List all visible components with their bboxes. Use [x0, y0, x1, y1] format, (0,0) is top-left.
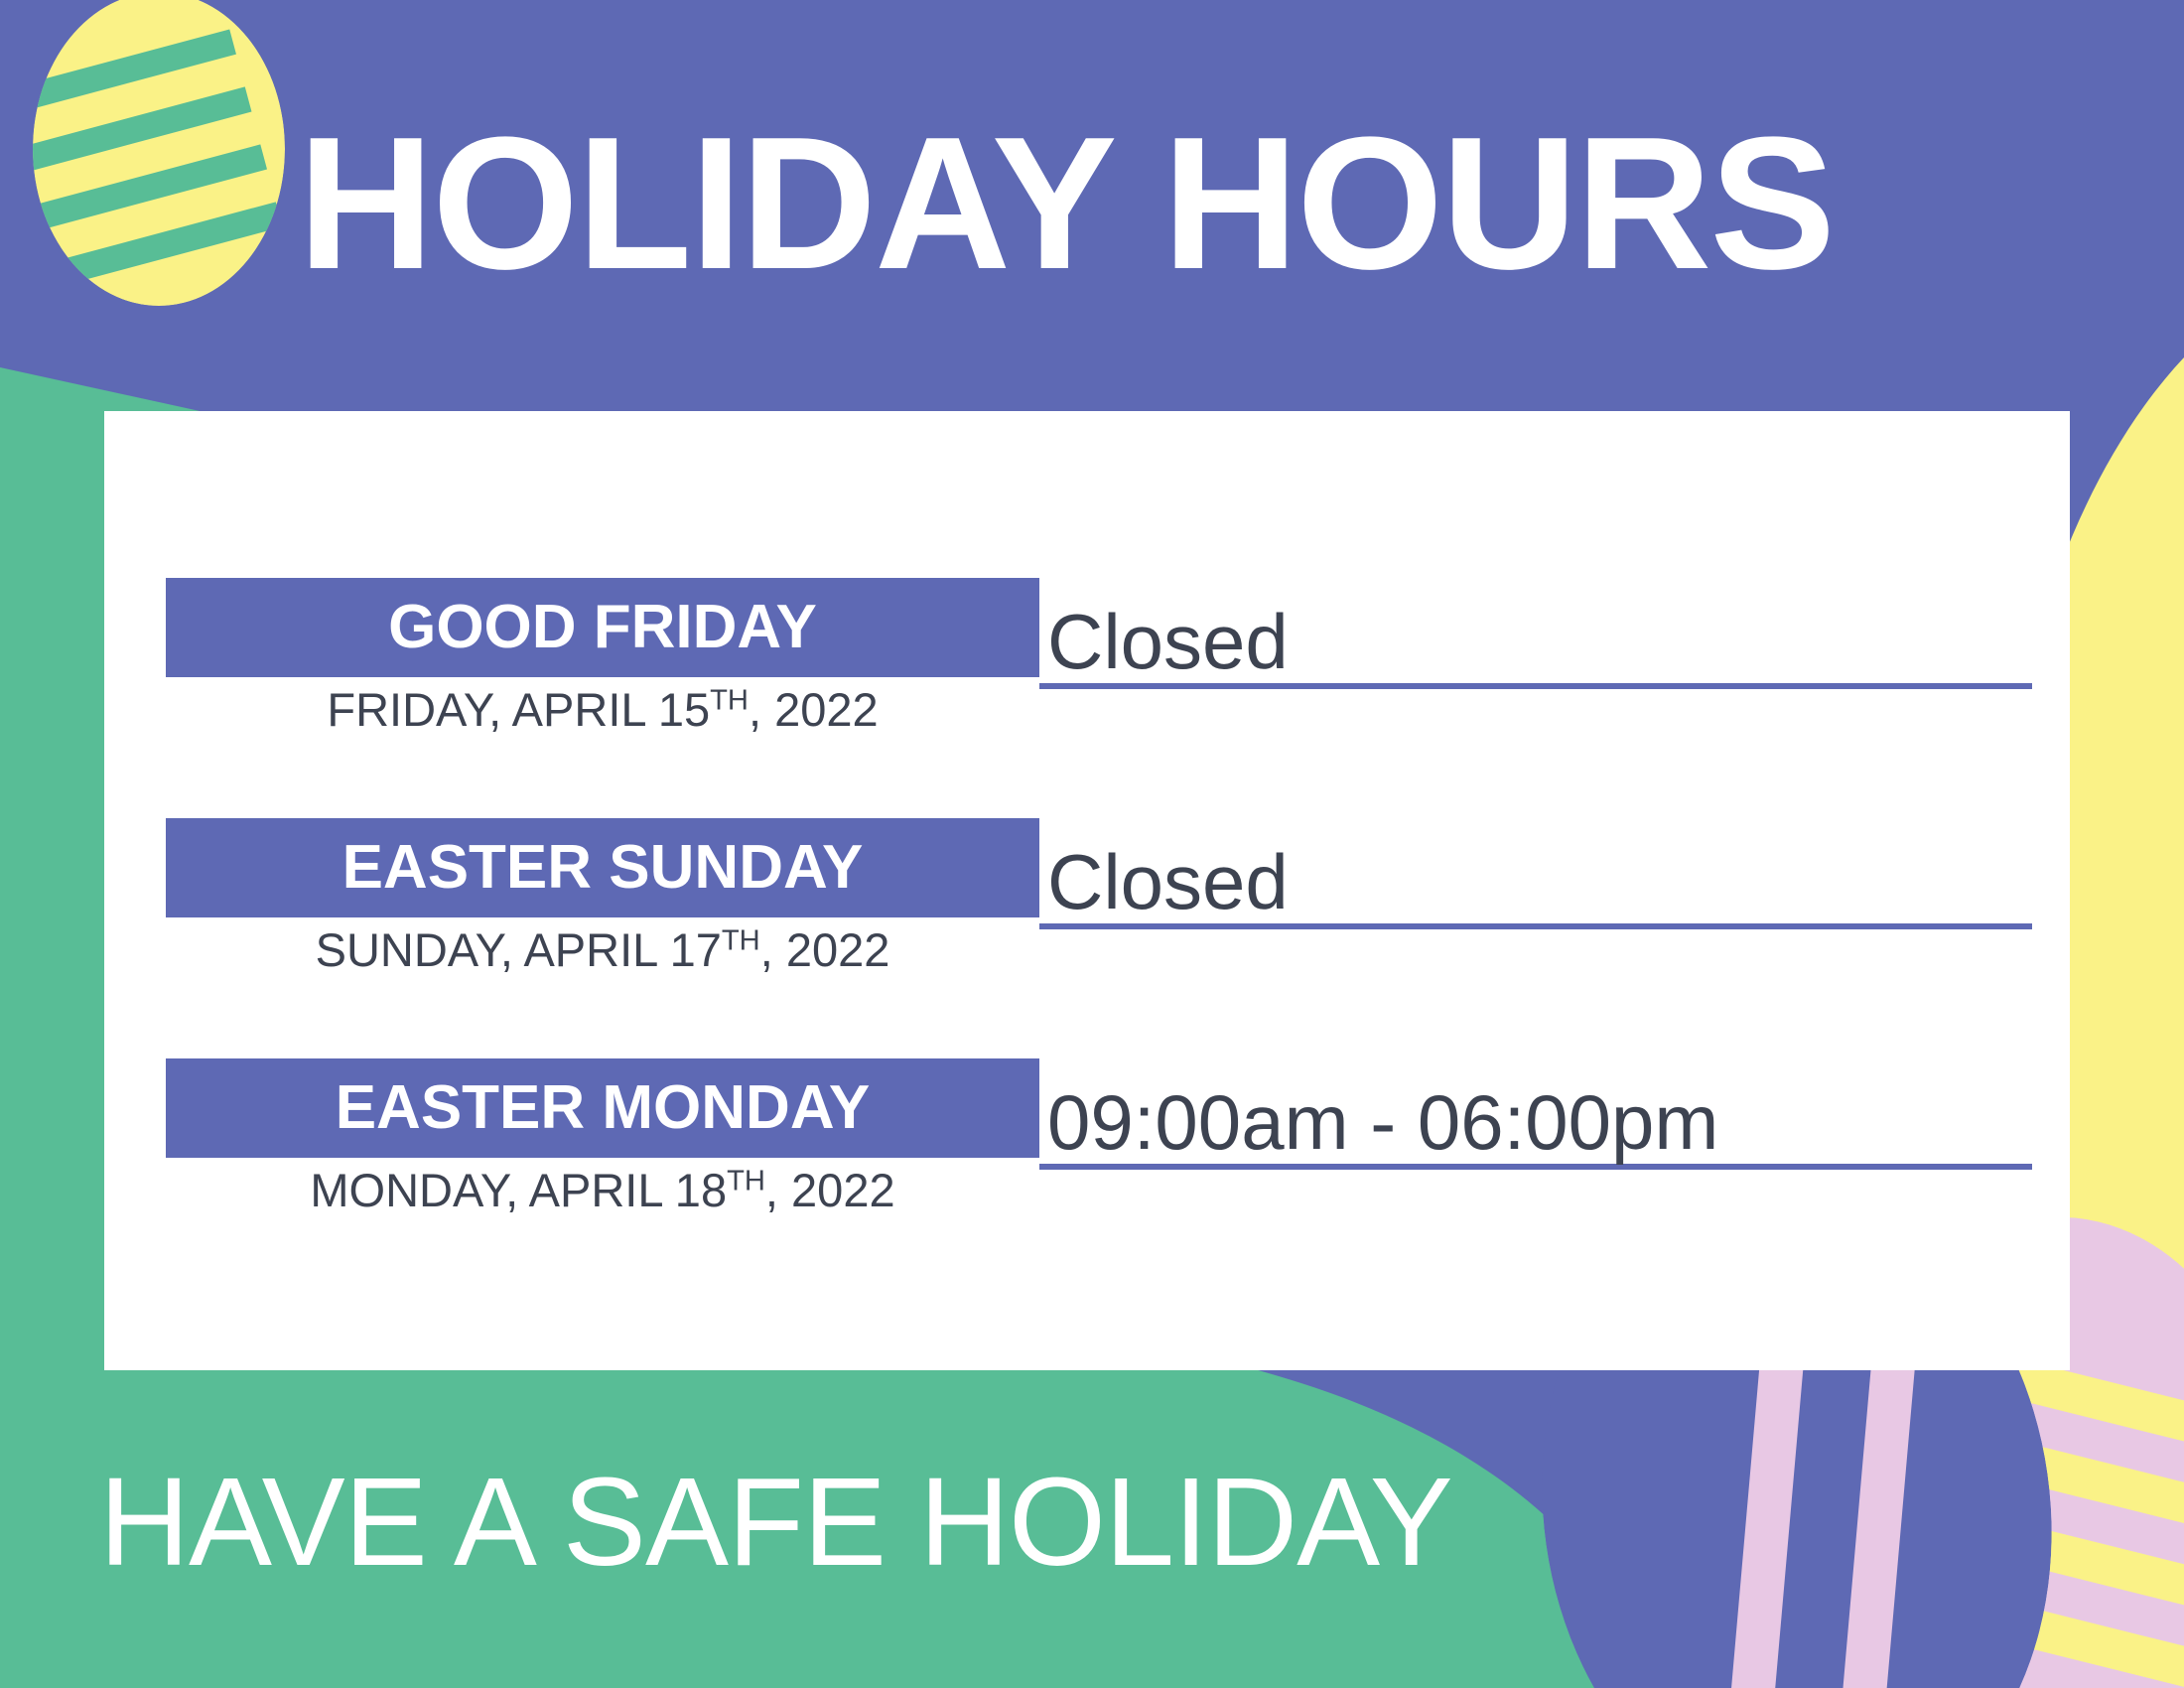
holiday-date-year: , 2022	[749, 683, 879, 736]
holiday-date-ordinal-suffix: TH	[727, 1165, 765, 1196]
holiday-name-label: EASTER SUNDAY	[342, 837, 864, 899]
page-title: HOLIDAY HOURS	[298, 109, 1985, 298]
holiday-hours-value: Closed	[1039, 842, 1289, 923]
holiday-name-bar: EASTER SUNDAY	[166, 818, 1039, 917]
holiday-hours-value: 09:00am - 06:00pm	[1039, 1082, 1718, 1164]
holiday-date-label: MONDAY, APRIL 18TH, 2022	[166, 1162, 1039, 1220]
footer-message: HAVE A SAFE HOLIDAY	[99, 1460, 1452, 1585]
holiday-date-ordinal-suffix: TH	[722, 924, 760, 956]
holiday-name-bar: GOOD FRIDAY	[166, 578, 1039, 677]
schedule-row: GOOD FRIDAY FRIDAY, APRIL 15TH, 2022 Clo…	[104, 578, 2070, 806]
holiday-hours-poster: HOLIDAY HOURS GOOD FRIDAY FRIDAY, APRIL …	[0, 0, 2184, 1688]
schedule-row: EASTER SUNDAY SUNDAY, APRIL 17TH, 2022 C…	[104, 818, 2070, 1047]
holiday-date-year: , 2022	[760, 923, 890, 976]
holiday-hours-field: Closed	[1039, 572, 2032, 689]
holiday-name-bar: EASTER MONDAY	[166, 1058, 1039, 1158]
holiday-date-prefix: FRIDAY, APRIL 15	[327, 683, 710, 736]
holiday-hours-value: Closed	[1039, 602, 1289, 683]
holiday-date-ordinal-suffix: TH	[710, 684, 749, 716]
holiday-hours-field: 09:00am - 06:00pm	[1039, 1053, 2032, 1170]
holiday-name-label: GOOD FRIDAY	[388, 597, 817, 658]
holiday-date-label: SUNDAY, APRIL 17TH, 2022	[166, 921, 1039, 980]
holiday-date-prefix: MONDAY, APRIL 18	[310, 1164, 727, 1216]
holiday-hours-field: Closed	[1039, 812, 2032, 929]
holiday-date-year: , 2022	[765, 1164, 895, 1216]
schedule-row: EASTER MONDAY MONDAY, APRIL 18TH, 2022 0…	[104, 1058, 2070, 1287]
schedule-card: GOOD FRIDAY FRIDAY, APRIL 15TH, 2022 Clo…	[104, 411, 2070, 1370]
holiday-name-label: EASTER MONDAY	[336, 1077, 871, 1139]
holiday-date-label: FRIDAY, APRIL 15TH, 2022	[166, 681, 1039, 740]
holiday-date-prefix: SUNDAY, APRIL 17	[316, 923, 722, 976]
